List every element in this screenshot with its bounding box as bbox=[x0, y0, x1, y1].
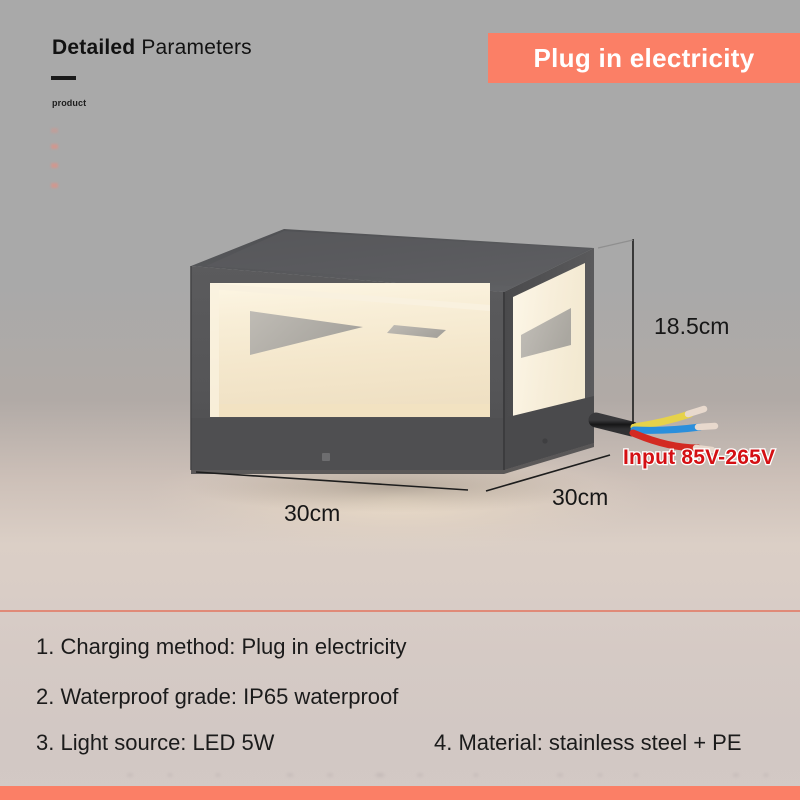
clipped-text-smudge bbox=[0, 766, 800, 784]
depth-dimension-label: 30cm bbox=[552, 484, 608, 511]
front-panel-glow-rim-bottom bbox=[210, 404, 490, 417]
height-dimension-label: 18.5cm bbox=[654, 313, 729, 340]
product-spec-page: Detailed Parameters product Plug in elec… bbox=[0, 0, 800, 800]
right-face-screw-dot bbox=[542, 438, 547, 443]
lamp-front-lower-skirt bbox=[191, 418, 504, 470]
spec-divider bbox=[0, 610, 800, 612]
power-cable-sheath bbox=[596, 420, 632, 429]
yellow-wire-copper-tip bbox=[688, 409, 704, 414]
height-dimension-leader-top bbox=[598, 240, 633, 248]
spec-item-material: 4. Material: stainless steel + PE bbox=[434, 730, 742, 756]
spec-item-light-source: 3. Light source: LED 5W bbox=[36, 730, 274, 756]
blue-wire-copper-tip bbox=[698, 426, 715, 427]
front-panel-glow-rim-left bbox=[210, 285, 219, 417]
blue-neutral-wire bbox=[634, 427, 700, 430]
spec-item-charging-method: 1. Charging method: Plug in electricity bbox=[36, 634, 407, 660]
spec-item-waterproof-grade: 2. Waterproof grade: IP65 waterproof bbox=[36, 684, 398, 710]
input-voltage-label: Input 85V-265V bbox=[623, 446, 775, 470]
width-dimension-label: 30cm bbox=[284, 500, 340, 527]
yellow-green-earth-wire bbox=[634, 414, 690, 427]
product-illustration bbox=[0, 0, 800, 800]
front-face-sensor-dot bbox=[322, 453, 330, 461]
bottom-accent-bar bbox=[0, 786, 800, 800]
